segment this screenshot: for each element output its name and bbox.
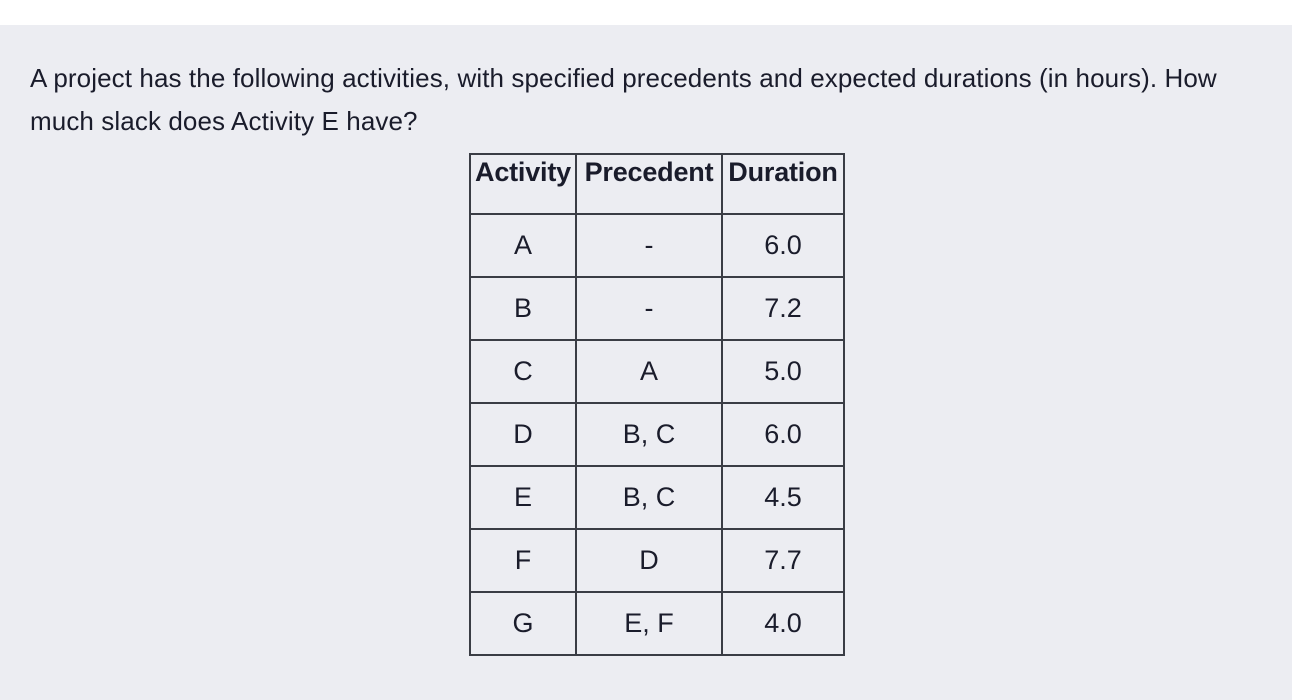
- cell-precedent: -: [576, 277, 722, 340]
- cell-duration: 4.5: [722, 466, 844, 529]
- cell-duration: 6.0: [722, 214, 844, 277]
- cell-precedent: A: [576, 340, 722, 403]
- table-row: G E, F 4.0: [470, 592, 844, 655]
- cell-activity: A: [470, 214, 576, 277]
- cell-duration: 6.0: [722, 403, 844, 466]
- cell-precedent: -: [576, 214, 722, 277]
- cell-activity: B: [470, 277, 576, 340]
- table-row: A - 6.0: [470, 214, 844, 277]
- table-row: E B, C 4.5: [470, 466, 844, 529]
- table-row: F D 7.7: [470, 529, 844, 592]
- cell-activity: F: [470, 529, 576, 592]
- table-row: C A 5.0: [470, 340, 844, 403]
- cell-precedent: B, C: [576, 403, 722, 466]
- cell-duration: 4.0: [722, 592, 844, 655]
- cell-activity: E: [470, 466, 576, 529]
- activity-table: Activity Precedent Duration A - 6.0 B - …: [469, 153, 845, 656]
- cell-activity: C: [470, 340, 576, 403]
- cell-precedent: E, F: [576, 592, 722, 655]
- content-surface: A project has the following activities, …: [0, 25, 1292, 700]
- cell-precedent: B, C: [576, 466, 722, 529]
- column-header-precedent: Precedent: [576, 154, 722, 214]
- table-row: D B, C 6.0: [470, 403, 844, 466]
- cell-precedent: D: [576, 529, 722, 592]
- activity-table-container: Activity Precedent Duration A - 6.0 B - …: [469, 153, 845, 656]
- table-header-row: Activity Precedent Duration: [470, 154, 844, 214]
- page-root: A project has the following activities, …: [0, 0, 1292, 700]
- table-header: Activity Precedent Duration: [470, 154, 844, 214]
- cell-activity: D: [470, 403, 576, 466]
- table-body: A - 6.0 B - 7.2 C A 5.0 D: [470, 214, 844, 655]
- column-header-duration: Duration: [722, 154, 844, 214]
- question-prompt: A project has the following activities, …: [30, 57, 1240, 143]
- table-row: B - 7.2: [470, 277, 844, 340]
- cell-duration: 7.2: [722, 277, 844, 340]
- cell-duration: 7.7: [722, 529, 844, 592]
- column-header-activity: Activity: [470, 154, 576, 214]
- cell-activity: G: [470, 592, 576, 655]
- cell-duration: 5.0: [722, 340, 844, 403]
